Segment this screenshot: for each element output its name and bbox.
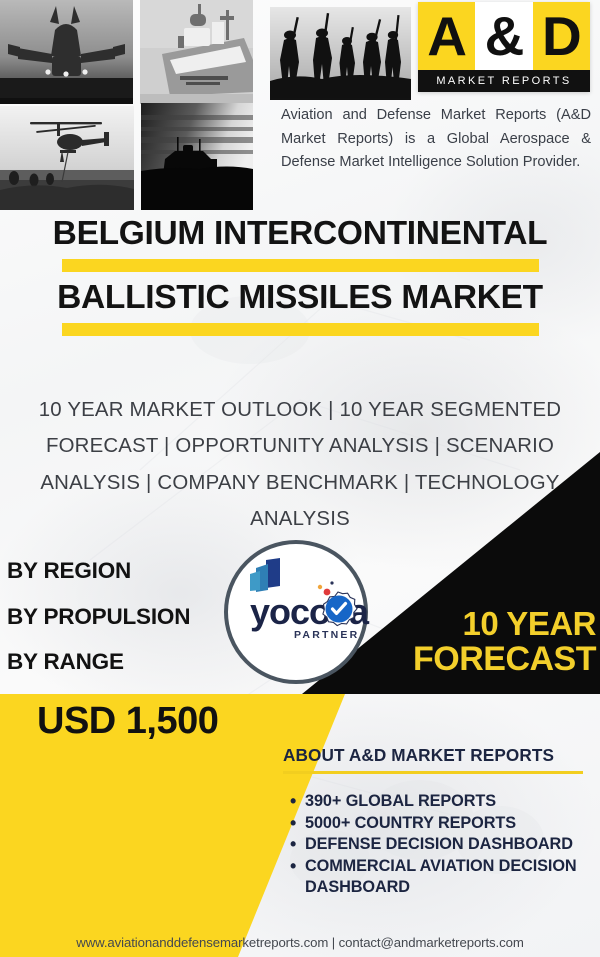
- report-cover-poster: A & D MARKET REPORTS Aviation and Defens…: [0, 0, 600, 957]
- about-list-item: DEFENSE DECISION DASHBOARD: [305, 834, 593, 855]
- about-section-title: ABOUT A&D MARKET REPORTS: [283, 745, 593, 766]
- fighter-jet-photo: [0, 0, 133, 104]
- segment-item-region: BY REGION: [7, 560, 190, 583]
- forecast-badge-line-1: 10 YEAR: [413, 607, 596, 640]
- report-title-line-2: BALLISTIC MISSILES MARKET: [0, 280, 600, 315]
- about-title-underline: [283, 771, 583, 774]
- helicopter-photo: [0, 106, 134, 210]
- ad-logo-letters: A & D: [418, 2, 590, 70]
- intro-paragraph: Aviation and Defense Market Reports (A&D…: [281, 104, 591, 175]
- forecast-badge: 10 YEAR FORECAST: [413, 607, 596, 678]
- ad-logo-ampersand: &: [475, 2, 532, 70]
- yocova-partner-logo: yocova PARTNER: [222, 538, 370, 686]
- report-title-line-1: BELGIUM INTERCONTINENTAL: [0, 216, 600, 251]
- ad-logo-letter-a: A: [418, 2, 475, 70]
- ad-logo-letter-d: D: [533, 2, 590, 70]
- ad-logo-tagline: MARKET REPORTS: [418, 70, 590, 92]
- about-bullet-list: 390+ GLOBAL REPORTS 5000+ COUNTRY REPORT…: [283, 791, 593, 898]
- about-list-item: COMMERCIAL AVIATION DECISION DASHBOARD: [305, 856, 593, 898]
- svg-text:PARTNER: PARTNER: [294, 629, 359, 641]
- footer-contact: www.aviationanddefensemarketreports.com …: [0, 935, 600, 950]
- title-underline-bar-1: [62, 259, 539, 272]
- report-title: BELGIUM INTERCONTINENTAL BALLISTIC MISSI…: [0, 216, 600, 344]
- segment-item-range: BY RANGE: [7, 651, 190, 674]
- about-list-item: 5000+ COUNTRY REPORTS: [305, 813, 593, 834]
- price-label: USD 1,500: [37, 700, 218, 743]
- about-section: ABOUT A&D MARKET REPORTS 390+ GLOBAL REP…: [283, 745, 593, 899]
- report-subtitle: 10 YEAR MARKET OUTLOOK | 10 YEAR SEGMENT…: [32, 392, 568, 537]
- ad-market-reports-logo: A & D MARKET REPORTS: [418, 2, 590, 92]
- segment-item-propulsion: BY PROPULSION: [7, 606, 190, 629]
- warship-photo: [140, 0, 253, 104]
- title-underline-bar-2: [62, 323, 539, 336]
- about-list-item: 390+ GLOBAL REPORTS: [305, 791, 593, 812]
- segment-list: BY REGION BY PROPULSION BY RANGE: [7, 560, 190, 697]
- soldiers-photo: [270, 7, 411, 100]
- forecast-badge-line-2: FORECAST: [413, 640, 596, 678]
- armored-vehicle-photo: [141, 103, 253, 210]
